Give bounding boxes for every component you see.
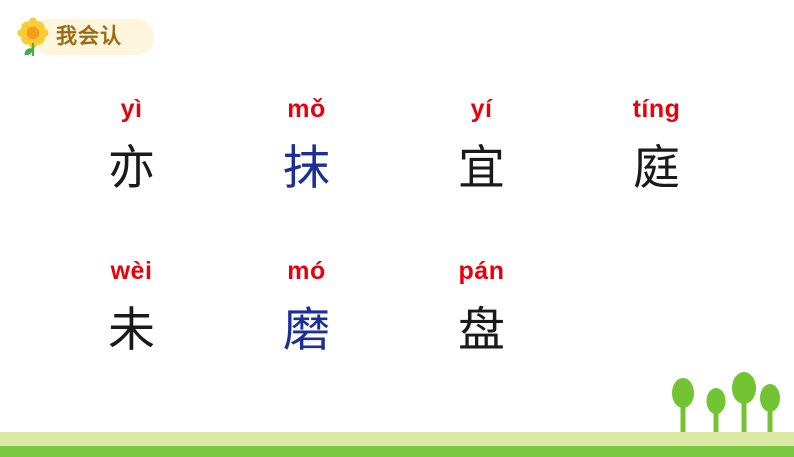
pinyin-label (569, 254, 744, 288)
character-cell-yi2[interactable]: yí 宜 (394, 92, 569, 212)
hanzi-glyph: 盘 (394, 288, 569, 374)
hanzi-glyph (569, 288, 744, 374)
hanzi-glyph: 宜 (394, 126, 569, 212)
pinyin-label: tíng (569, 92, 744, 126)
pinyin-label: yí (394, 92, 569, 126)
footer-band-light (0, 432, 794, 446)
row-spacer (44, 212, 724, 254)
sunflower-icon (14, 17, 52, 57)
tree-trunk (713, 402, 718, 434)
header-badge: 我会认 (14, 19, 134, 55)
footer-band-solid (0, 446, 794, 457)
tree-icon-1 (672, 378, 694, 434)
hanzi-glyph: 抹 (219, 126, 394, 212)
tree-trunk (742, 390, 747, 434)
hanzi-glyph: 磨 (219, 288, 394, 374)
hanzi-glyph: 亦 (44, 126, 219, 212)
character-row-2: wèi 未 mó 磨 pán 盘 (44, 254, 724, 374)
character-cell-yi[interactable]: yì 亦 (44, 92, 219, 212)
page-title: 我会认 (56, 19, 134, 55)
pinyin-label: mǒ (219, 92, 394, 126)
character-row-1: yì 亦 mǒ 抹 yí 宜 tíng 庭 (44, 92, 724, 212)
character-cell-empty (569, 254, 744, 374)
tree-icon-4 (760, 384, 780, 434)
character-cell-wei[interactable]: wèi 未 (44, 254, 219, 374)
character-cell-pan[interactable]: pán 盘 (394, 254, 569, 374)
character-cell-mo[interactable]: mǒ 抹 (219, 92, 394, 212)
tree-icon-2 (706, 388, 725, 434)
slide-canvas: 我会认 yì 亦 mǒ 抹 yí 宜 tíng 庭 wèi (0, 0, 794, 457)
tree-trunk (681, 394, 686, 434)
hanzi-glyph: 庭 (569, 126, 744, 212)
pinyin-label: pán (394, 254, 569, 288)
character-grid: yì 亦 mǒ 抹 yí 宜 tíng 庭 wèi 未 mó (44, 92, 724, 374)
character-cell-mo2[interactable]: mó 磨 (219, 254, 394, 374)
tree-trunk (768, 400, 773, 434)
hanzi-glyph: 未 (44, 288, 219, 374)
tree-icon-3 (732, 372, 756, 434)
character-cell-ting[interactable]: tíng 庭 (569, 92, 744, 212)
pinyin-label: yì (44, 92, 219, 126)
tree-decoration-group (664, 372, 784, 434)
pinyin-label: mó (219, 254, 394, 288)
pinyin-label: wèi (44, 254, 219, 288)
